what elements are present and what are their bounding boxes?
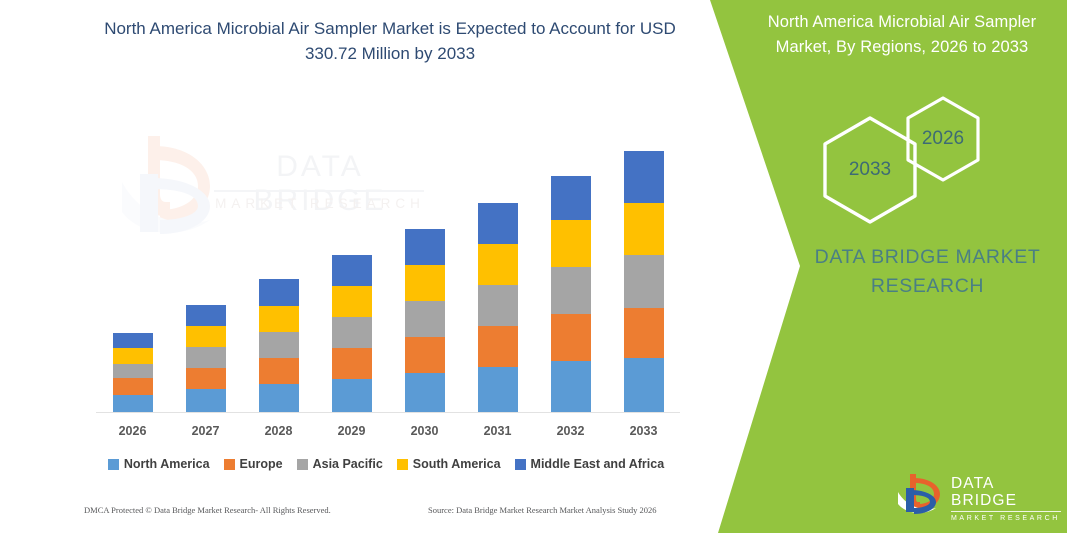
bar-segment <box>332 348 372 379</box>
bar-segment <box>405 229 445 265</box>
bar-segment <box>259 358 299 384</box>
bar-segment <box>624 151 664 203</box>
bar-segment <box>478 244 518 285</box>
brand-name-text: DATA BRIDGE MARKET RESEARCH <box>790 243 1065 301</box>
legend-label: Asia Pacific <box>313 457 383 471</box>
legend-label: Europe <box>240 457 283 471</box>
bar-segment <box>113 364 153 378</box>
legend-swatch-icon <box>224 459 235 470</box>
bar-segment <box>259 384 299 412</box>
bar-2030 <box>405 229 445 412</box>
footer-source: Source: Data Bridge Market Research Mark… <box>428 505 657 515</box>
bar-segment <box>259 279 299 306</box>
legend-swatch-icon <box>515 459 526 470</box>
bar-segment <box>551 314 591 361</box>
chart-legend: North AmericaEuropeAsia PacificSouth Ame… <box>96 455 676 473</box>
bar-segment <box>551 267 591 314</box>
chart-title: North America Microbial Air Sampler Mark… <box>100 16 680 66</box>
infographic-canvas: North America Microbial Air Sampler Mark… <box>0 0 1067 533</box>
x-axis-label-2030: 2030 <box>395 424 455 438</box>
hexagon-group: 2026 2033 <box>820 95 1040 225</box>
x-axis-label-2026: 2026 <box>103 424 163 438</box>
dbmr-logo-text: DATA BRIDGE MARKET RESEARCH <box>951 475 1063 523</box>
footer-copyright: DMCA Protected © Data Bridge Market Rese… <box>84 505 331 515</box>
bar-segment <box>186 389 226 412</box>
legend-swatch-icon <box>108 459 119 470</box>
stacked-bar-series <box>96 110 680 412</box>
x-axis-label-2032: 2032 <box>541 424 601 438</box>
legend-item[interactable]: Middle East and Africa <box>515 457 665 471</box>
bar-segment <box>551 220 591 267</box>
x-axis-line <box>96 412 680 413</box>
logo-divider <box>951 511 1061 512</box>
bar-segment <box>478 367 518 412</box>
bar-segment <box>186 347 226 368</box>
legend-item[interactable]: North America <box>108 457 210 471</box>
bar-segment <box>332 255 372 286</box>
bar-segment <box>332 379 372 412</box>
legend-label: Middle East and Africa <box>531 457 665 471</box>
dbmr-logo: DATA BRIDGE MARKET RESEARCH <box>896 472 1061 518</box>
bar-segment <box>259 306 299 332</box>
bar-segment <box>624 203 664 255</box>
bar-2033 <box>624 151 664 412</box>
dbmr-logo-mark-icon <box>896 472 944 516</box>
bar-2026 <box>113 333 153 412</box>
bar-2028 <box>259 279 299 412</box>
bar-segment <box>551 176 591 220</box>
bar-segment <box>186 326 226 347</box>
bar-2029 <box>332 255 372 412</box>
bar-2027 <box>186 305 226 412</box>
legend-item[interactable]: Asia Pacific <box>297 457 383 471</box>
x-axis-label-2033: 2033 <box>614 424 674 438</box>
x-axis-label-2028: 2028 <box>249 424 309 438</box>
bar-segment <box>113 395 153 412</box>
bar-2032 <box>551 176 591 412</box>
logo-line2: MARKET RESEARCH <box>951 514 1063 523</box>
bar-segment <box>405 265 445 301</box>
hexagon-2033-label: 2033 <box>820 159 920 181</box>
legend-swatch-icon <box>297 459 308 470</box>
logo-line1: DATA BRIDGE <box>951 475 1063 509</box>
legend-label: North America <box>124 457 210 471</box>
bar-segment <box>478 326 518 367</box>
legend-label: South America <box>413 457 501 471</box>
bar-segment <box>405 337 445 373</box>
x-axis-labels: 20262027202820292030203120322033 <box>96 424 680 442</box>
bar-segment <box>259 332 299 358</box>
x-axis-label-2031: 2031 <box>468 424 528 438</box>
bar-segment <box>186 305 226 326</box>
bar-segment <box>113 378 153 395</box>
x-axis-label-2027: 2027 <box>176 424 236 438</box>
bar-segment <box>332 317 372 348</box>
legend-swatch-icon <box>397 459 408 470</box>
hexagon-2033: 2033 <box>820 115 920 225</box>
bar-segment <box>624 358 664 412</box>
bar-segment <box>332 286 372 317</box>
bar-segment <box>405 301 445 337</box>
panel-title: North America Microbial Air Sampler Mark… <box>742 10 1062 60</box>
bar-segment <box>113 348 153 364</box>
legend-item[interactable]: Europe <box>224 457 283 471</box>
bar-2031 <box>478 203 518 412</box>
legend-item[interactable]: South America <box>397 457 501 471</box>
bar-segment <box>624 255 664 308</box>
bar-segment <box>113 333 153 348</box>
footer: DMCA Protected © Data Bridge Market Rese… <box>0 505 700 525</box>
bar-segment <box>624 308 664 358</box>
bar-segment <box>478 203 518 244</box>
bar-segment <box>186 368 226 389</box>
bar-segment <box>405 373 445 412</box>
bar-segment <box>551 361 591 412</box>
bar-segment <box>478 285 518 326</box>
x-axis-label-2029: 2029 <box>322 424 382 438</box>
